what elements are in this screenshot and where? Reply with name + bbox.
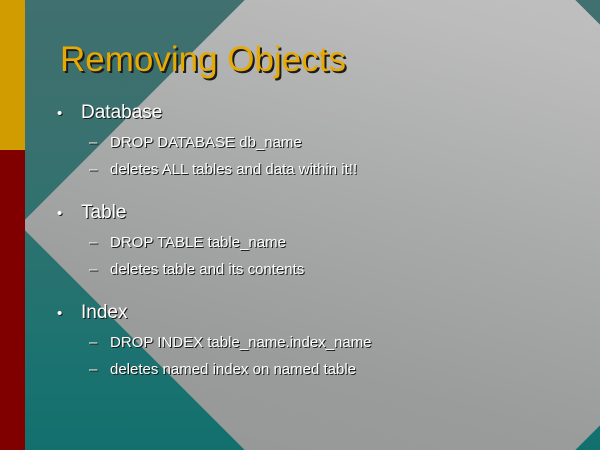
sub-bullet-item: – deletes table and its contents: [89, 256, 594, 283]
bullet-item-index: • Index: [51, 298, 594, 329]
bullet-group: • Database – DROP DATABASE db_name – del…: [51, 98, 594, 183]
left-accent-band-red: [0, 150, 25, 450]
bullet-marker-icon: •: [51, 99, 81, 129]
bullet-group: • Index – DROP INDEX table_name.index_na…: [51, 298, 594, 383]
dash-marker-icon: –: [89, 229, 110, 256]
dash-marker-icon: –: [89, 156, 110, 183]
slide-content: Removing Objects • Database – DROP DATAB…: [25, 0, 600, 450]
dash-marker-icon: –: [89, 356, 110, 383]
bullet-label: Database: [81, 98, 162, 128]
sub-bullet-item: – DROP INDEX table_name.index_name: [89, 329, 594, 356]
bullet-label: Index: [81, 298, 127, 328]
bullet-item-table: • Table: [51, 198, 594, 229]
group-spacer: [51, 185, 594, 198]
bullet-group: • Table – DROP TABLE table_name – delete…: [51, 198, 594, 283]
dash-marker-icon: –: [89, 329, 110, 356]
sub-bullet-label: DROP DATABASE db_name: [110, 129, 302, 156]
bullet-marker-icon: •: [51, 199, 81, 229]
sub-bullet-item: – deletes ALL tables and data within it!…: [89, 156, 594, 183]
dash-marker-icon: –: [89, 129, 110, 156]
sub-bullet-label: DROP TABLE table_name: [110, 229, 286, 256]
dash-marker-icon: –: [89, 256, 110, 283]
sub-bullet-item: – DROP TABLE table_name: [89, 229, 594, 256]
bullet-list: • Database – DROP DATABASE db_name – del…: [51, 98, 594, 385]
page-title: Removing Objects: [60, 38, 346, 82]
sub-bullet-label: deletes ALL tables and data within it!!: [110, 156, 357, 183]
left-accent-band-gold: [0, 0, 25, 150]
bullet-label: Table: [81, 198, 126, 228]
sub-bullet-label: deletes table and its contents: [110, 256, 304, 283]
sub-bullet-label: deletes named index on named table: [110, 356, 356, 383]
sub-bullet-label: DROP INDEX table_name.index_name: [110, 329, 372, 356]
bullet-marker-icon: •: [51, 299, 81, 329]
sub-bullet-item: – deletes named index on named table: [89, 356, 594, 383]
group-spacer: [51, 285, 594, 298]
bullet-item-database: • Database: [51, 98, 594, 129]
sub-bullet-item: – DROP DATABASE db_name: [89, 129, 594, 156]
slide: Removing Objects • Database – DROP DATAB…: [0, 0, 600, 450]
